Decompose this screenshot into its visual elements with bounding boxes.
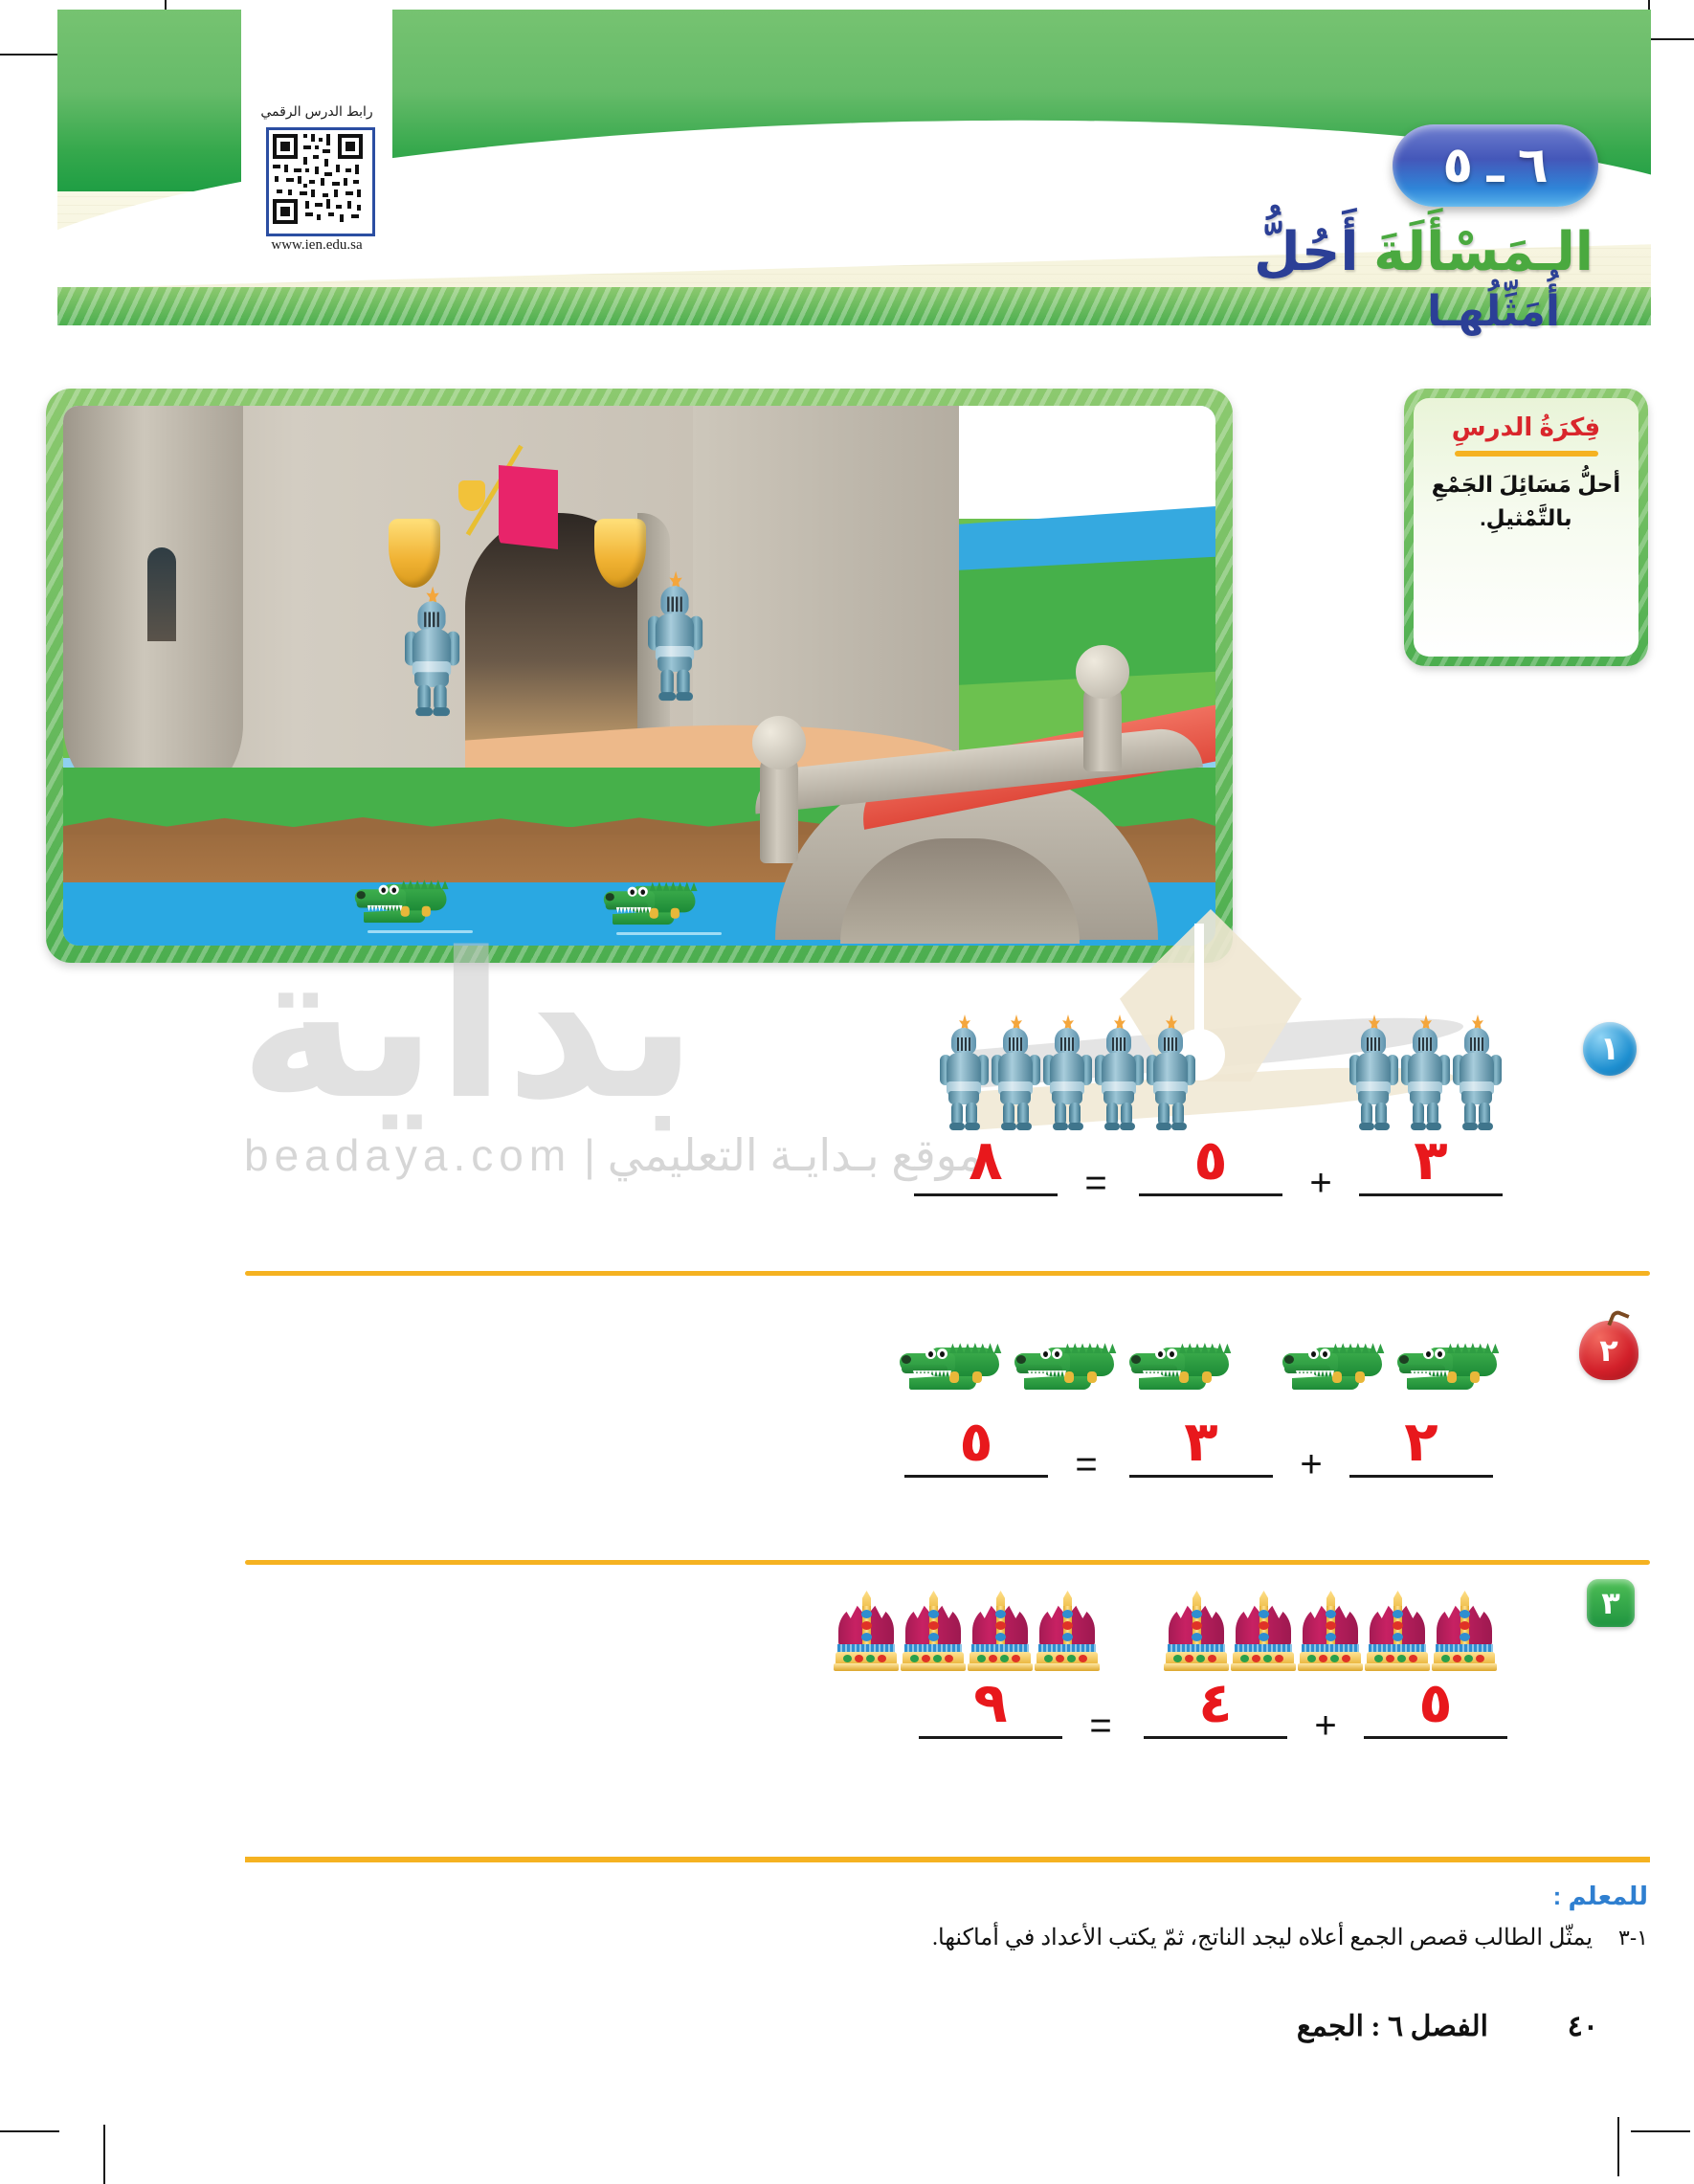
crown-icon — [1297, 1591, 1364, 1671]
exercise-1-blank-left[interactable] — [1139, 1193, 1282, 1196]
exercise-2-blank-sum[interactable] — [904, 1475, 1048, 1478]
teacher-note-text: يمثّل الطالب قصص الجمع أعلاه ليجد الناتج… — [932, 1924, 1593, 1951]
knight-icon — [1348, 1014, 1399, 1127]
lesson-idea-title: فِكرَةُ الدرسِ — [1427, 412, 1625, 443]
teacher-note-divider — [245, 1857, 1650, 1862]
exercise-3-addend-left[interactable]: ٤ — [1144, 1670, 1287, 1735]
crocodile-icon — [1014, 1340, 1129, 1392]
watermark-url: موقع بـدايـة التعليمي | beadaya.com — [244, 1129, 982, 1181]
exercise-1-plus-sign: + — [1302, 1162, 1340, 1205]
exercise-2-equals-sign: = — [1067, 1443, 1105, 1486]
qr-label: رابط الدرس الرقمي — [241, 103, 392, 120]
header-bottom-band — [57, 287, 1651, 325]
knight-icon — [1145, 1014, 1196, 1127]
exercise-1-sum[interactable]: ٨ — [914, 1127, 1058, 1192]
exercise-badge-label: ١ — [1600, 1030, 1620, 1068]
bridge-post — [1083, 680, 1122, 771]
exercise-badge-1: ١ — [1583, 1022, 1637, 1076]
exercise-3-addend-right[interactable]: ٥ — [1364, 1670, 1507, 1735]
exercise-2-left-group — [900, 1340, 1244, 1392]
qr-code-icon[interactable] — [266, 127, 375, 236]
crown-icon — [1431, 1591, 1498, 1671]
page-title-word2: الـمَسْأَلَةَ — [1373, 221, 1594, 281]
knight-icon — [938, 1014, 990, 1127]
knight-icon — [403, 587, 460, 719]
page-title-word1: أَحُلُّ — [1254, 221, 1359, 281]
castle-scene — [63, 406, 1215, 946]
crown-icon — [833, 1591, 900, 1671]
exercise-3-left-group — [833, 1591, 1101, 1671]
exercise-badge-2: ٢ — [1579, 1321, 1638, 1380]
castle-illustration — [46, 389, 1233, 666]
crocodile-icon — [1282, 1340, 1397, 1392]
crown-icon — [1163, 1591, 1230, 1671]
page-subtitle: أُمَثِّلُهـا — [1427, 287, 1560, 336]
knight-icon — [1451, 1014, 1503, 1127]
crown-icon — [967, 1591, 1034, 1671]
castle-tower — [63, 406, 243, 813]
teacher-note-range: ١-٣ — [1618, 1926, 1648, 1950]
crocodile-icon — [604, 879, 709, 930]
exercise-1-addend-right[interactable]: ٣ — [1359, 1127, 1503, 1192]
exercise-2-plus-sign: + — [1292, 1443, 1330, 1486]
exercise-badge-label: ٢ — [1599, 1332, 1618, 1369]
exercise-2-blank-left[interactable] — [1129, 1475, 1273, 1478]
lesson-idea-text: أحلُّ مَسَائِلَ الجَمْعِ بالتَّمْثيلِ. — [1427, 468, 1625, 536]
exercise-1-blank-right[interactable] — [1359, 1193, 1503, 1196]
lesson-idea-inner: فِكرَةُ الدرسِ أحلُّ مَسَائِلَ الجَمْعِ … — [1414, 398, 1638, 657]
exercise-1-addend-left[interactable]: ٥ — [1139, 1127, 1282, 1192]
lesson-number-label: ٦ ـ ٥ — [1442, 137, 1548, 194]
crocodile-icon — [900, 1340, 1014, 1392]
qr-url-label: www.ien.edu.sa — [241, 237, 392, 254]
exercise-3-right-group — [1163, 1591, 1498, 1671]
lesson-idea-card: فِكرَةُ الدرسِ أحلُّ مَسَائِلَ الجَمْعِ … — [1404, 389, 1648, 666]
knight-icon — [646, 571, 703, 703]
flag-icon — [499, 465, 558, 549]
crown-icon — [1034, 1591, 1101, 1671]
exercise-1-blank-sum[interactable] — [914, 1193, 1058, 1196]
exercise-3-equals-sign: = — [1081, 1705, 1120, 1748]
digital-lesson-link-box[interactable]: رابط الدرس الرقمي — [241, 0, 392, 276]
exercise-1-right-group — [1348, 1014, 1503, 1127]
footer-chapter-label: الفصل ٦ : الجمع — [1297, 2010, 1488, 2043]
teacher-note-title: للمعلم : — [1553, 1882, 1648, 1911]
exercise-3-sum[interactable]: ٩ — [919, 1670, 1062, 1735]
lesson-idea-underline — [1455, 451, 1598, 457]
exercise-badge-label: ٣ — [1601, 1585, 1620, 1621]
footer-page-number: ٤٠ — [1568, 2010, 1598, 2043]
exercise-3-blank-left[interactable] — [1144, 1736, 1287, 1739]
crocodile-icon — [1397, 1340, 1512, 1392]
exercise-2-sum[interactable]: ٥ — [904, 1409, 1048, 1474]
exercise-3-plus-sign: + — [1306, 1705, 1345, 1748]
crocodile-icon — [355, 877, 460, 928]
exercise-divider — [245, 1560, 1650, 1565]
exercise-1-equals-sign: = — [1077, 1162, 1115, 1205]
apple-stem-icon — [1607, 1308, 1629, 1330]
water-ripple — [368, 930, 473, 933]
lesson-number-badge: ٦ ـ ٥ — [1393, 124, 1598, 207]
water-ripple — [616, 932, 722, 935]
exercise-2-addend-left[interactable]: ٣ — [1129, 1409, 1273, 1474]
exercise-2-blank-right[interactable] — [1349, 1475, 1493, 1478]
exercise-3-blank-right[interactable] — [1364, 1736, 1507, 1739]
page-title: الـمَسْأَلَةَ أَحُلُّ — [1254, 220, 1594, 283]
exercise-1-left-group — [938, 1014, 1196, 1127]
bridge-post — [760, 750, 798, 863]
knight-icon — [990, 1014, 1041, 1127]
exercise-2-right-group — [1282, 1340, 1512, 1392]
tower-window — [147, 547, 176, 641]
exercise-3-blank-sum[interactable] — [919, 1736, 1062, 1739]
exercise-badge-3: ٣ — [1587, 1579, 1635, 1627]
knight-icon — [1041, 1014, 1093, 1127]
exercise-2-addend-right[interactable]: ٢ — [1349, 1409, 1493, 1474]
exercise-divider — [245, 1271, 1650, 1276]
stone-bridge — [733, 693, 1215, 932]
crocodile-icon — [1129, 1340, 1244, 1392]
textbook-page: ٦ ـ ٥ الـمَسْأَلَةَ أَحُلُّ أُمَثِّلُهـا… — [0, 0, 1694, 2184]
knight-icon — [1093, 1014, 1145, 1127]
crown-icon — [900, 1591, 967, 1671]
illustration-frame — [46, 389, 1233, 963]
knight-icon — [1399, 1014, 1451, 1127]
crown-icon — [1364, 1591, 1431, 1671]
crown-icon — [1230, 1591, 1297, 1671]
